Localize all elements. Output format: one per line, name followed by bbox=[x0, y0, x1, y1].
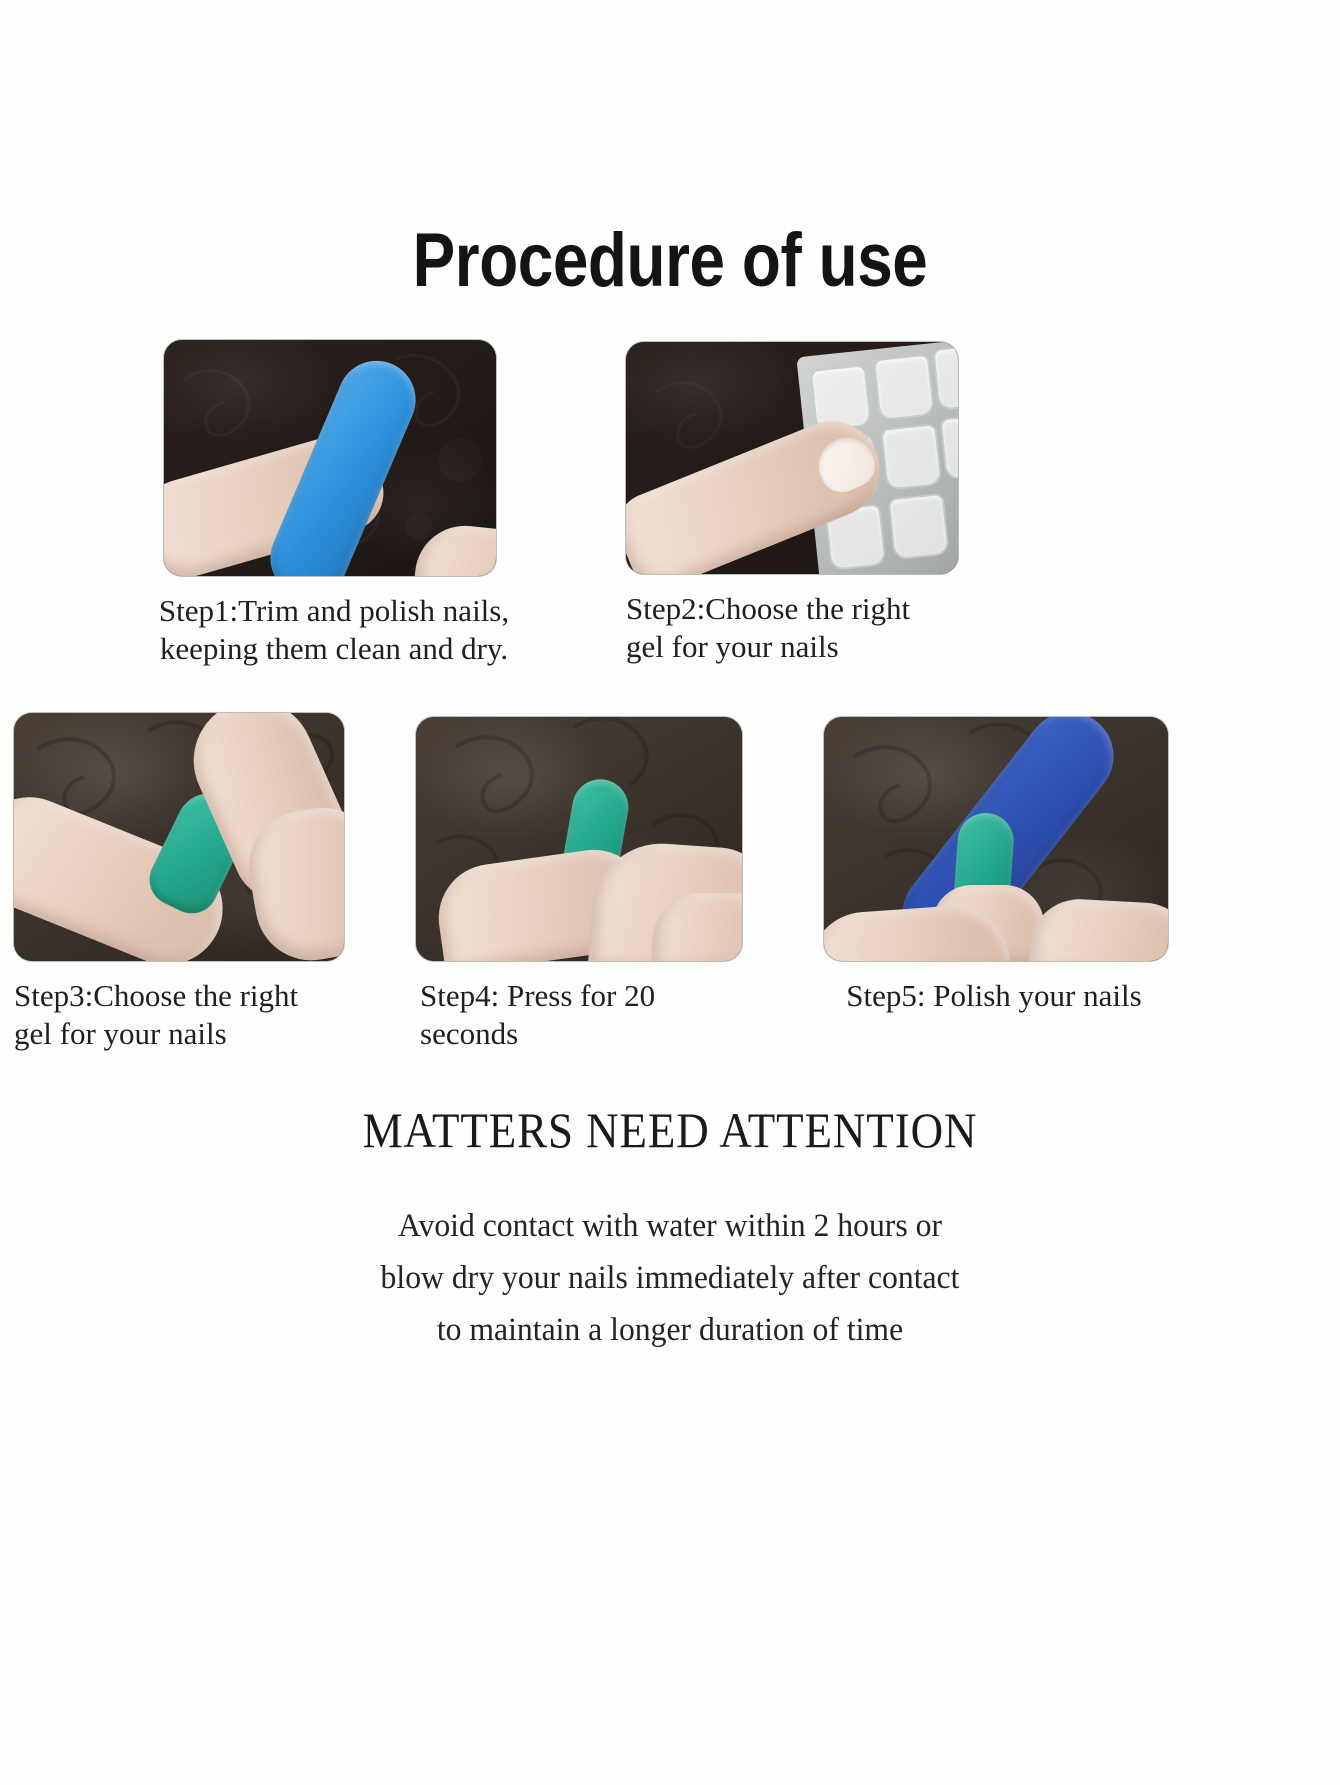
step-caption-5: Step5: Polish your nails bbox=[794, 977, 1194, 1015]
page-title: Procedure of use bbox=[107, 218, 1233, 304]
step-photo-1 bbox=[164, 340, 496, 576]
steps-row-bottom: Step3:Choose the right gel for your nail… bbox=[0, 713, 1340, 1058]
step-card-3: Step3:Choose the right gel for your nail… bbox=[14, 713, 344, 961]
gel-tab bbox=[873, 354, 935, 422]
instruction-page: Procedure of use bbox=[0, 0, 1340, 1785]
step-photo-2 bbox=[626, 342, 958, 574]
step-card-2: Step2:Choose the right gel for your nail… bbox=[626, 342, 958, 574]
gel-tab bbox=[888, 493, 950, 561]
step-card-4: Step4: Press for 20 seconds bbox=[416, 717, 742, 961]
attention-body-text: Avoid contact with water within 2 hours … bbox=[27, 1200, 1313, 1356]
gel-tab bbox=[932, 345, 958, 411]
steps-row-top: Step1:Trim and polish nails, keeping the… bbox=[0, 340, 1340, 670]
step-photo-5 bbox=[824, 717, 1168, 961]
step-caption-3: Step3:Choose the right gel for your nail… bbox=[14, 977, 384, 1053]
gel-tab bbox=[880, 423, 942, 491]
step-caption-1: Step1:Trim and polish nails, keeping the… bbox=[124, 592, 544, 668]
step-photo-3 bbox=[14, 713, 344, 961]
step-card-5: Step5: Polish your nails bbox=[824, 717, 1168, 961]
gel-tab bbox=[940, 415, 958, 481]
step-caption-2: Step2:Choose the right gel for your nail… bbox=[626, 590, 986, 666]
step-caption-4: Step4: Press for 20 seconds bbox=[420, 977, 780, 1053]
attention-heading: MATTERS NEED ATTENTION bbox=[67, 1100, 1273, 1160]
step-card-1: Step1:Trim and polish nails, keeping the… bbox=[164, 340, 496, 576]
step-photo-4 bbox=[416, 717, 742, 961]
